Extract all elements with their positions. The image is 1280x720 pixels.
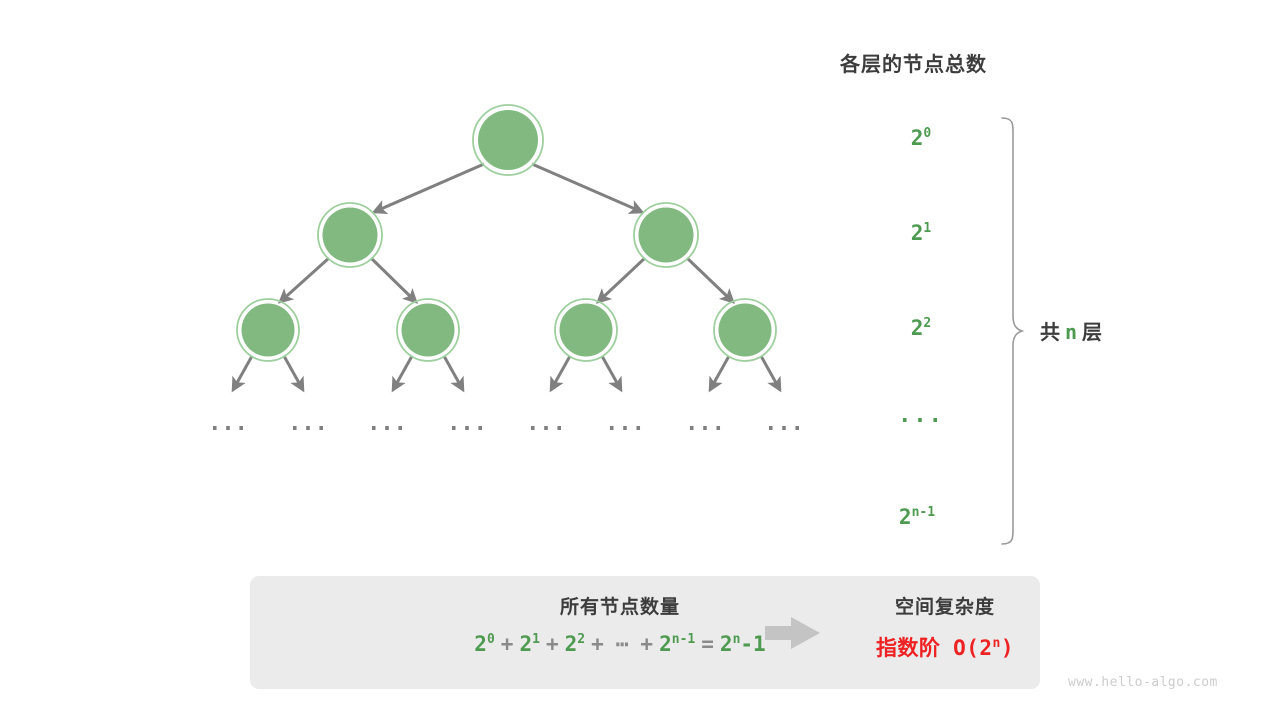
space-complexity-value: 指数阶 O(2n) bbox=[850, 632, 1040, 662]
tree-edges-level-2 bbox=[233, 356, 780, 390]
tree-node-root bbox=[473, 105, 543, 175]
formula-equals: = bbox=[695, 632, 720, 656]
summary-right-block: 空间复杂度 指数阶 O(2n) bbox=[850, 592, 1040, 662]
level-label-2: 22 bbox=[866, 316, 976, 340]
tree-ellipsis-row: ... ... ... ... ... ... ... ... bbox=[208, 411, 804, 436]
total-levels-variable: n bbox=[1062, 320, 1082, 344]
formula-result: 2n-1 bbox=[720, 632, 766, 656]
tree-ellipsis: ... bbox=[685, 411, 725, 436]
page-title: 各层的节点总数 bbox=[840, 48, 1080, 77]
complexity-notation: O(2n) bbox=[953, 636, 1014, 660]
level-label-ellipsis: ··· bbox=[866, 409, 976, 434]
tree-nodes bbox=[237, 105, 776, 361]
formula-plus: + bbox=[585, 632, 610, 656]
tree-ellipsis: ... bbox=[367, 411, 407, 436]
diagram-canvas: 各层的节点总数 bbox=[0, 0, 1280, 720]
arrow-right-icon bbox=[765, 616, 821, 650]
tree-node bbox=[397, 299, 459, 361]
tree-node bbox=[318, 203, 382, 267]
formula-term-4: 2n-1 bbox=[659, 632, 695, 656]
total-levels-suffix: 层 bbox=[1082, 322, 1104, 344]
tree-ellipsis: ... bbox=[208, 411, 248, 436]
tree-edges-level-0 bbox=[374, 164, 642, 212]
level-label-1: 21 bbox=[866, 221, 976, 245]
levels-brace bbox=[1002, 118, 1022, 544]
formula-plus: + bbox=[634, 632, 659, 656]
watermark: www.hello-algo.com bbox=[1068, 675, 1218, 690]
tree-edges-level-1 bbox=[280, 258, 733, 302]
tree-node bbox=[237, 299, 299, 361]
tree-ellipsis: ... bbox=[288, 411, 328, 436]
formula-plus: + bbox=[495, 632, 520, 656]
level-label-0: 20 bbox=[866, 126, 976, 150]
tree-ellipsis: ... bbox=[605, 411, 645, 436]
formula-term-2: 21 bbox=[519, 632, 540, 656]
complexity-name: 指数阶 bbox=[876, 637, 941, 660]
tree-ellipsis: ... bbox=[764, 411, 804, 436]
formula-plus: + bbox=[540, 632, 565, 656]
summary-panel: 所有节点数量 20+21+22+⋯+2n-1=2n-1 空间复杂度 指数阶 O(… bbox=[250, 576, 1040, 689]
tree-ellipsis: ... bbox=[447, 411, 487, 436]
tree-node bbox=[634, 203, 698, 267]
level-label-n: 2n-1 bbox=[862, 505, 972, 529]
formula-term-3: 22 bbox=[565, 632, 586, 656]
tree-node bbox=[714, 299, 776, 361]
tree-node bbox=[555, 299, 617, 361]
formula-ellipsis: ⋯ bbox=[610, 632, 635, 656]
formula-term-1: 20 bbox=[474, 632, 495, 656]
total-levels-prefix: 共 bbox=[1040, 322, 1062, 344]
total-levels-label: 共n层 bbox=[1040, 316, 1104, 345]
space-complexity-heading: 空间复杂度 bbox=[850, 592, 1040, 619]
tree-ellipsis: ... bbox=[526, 411, 566, 436]
